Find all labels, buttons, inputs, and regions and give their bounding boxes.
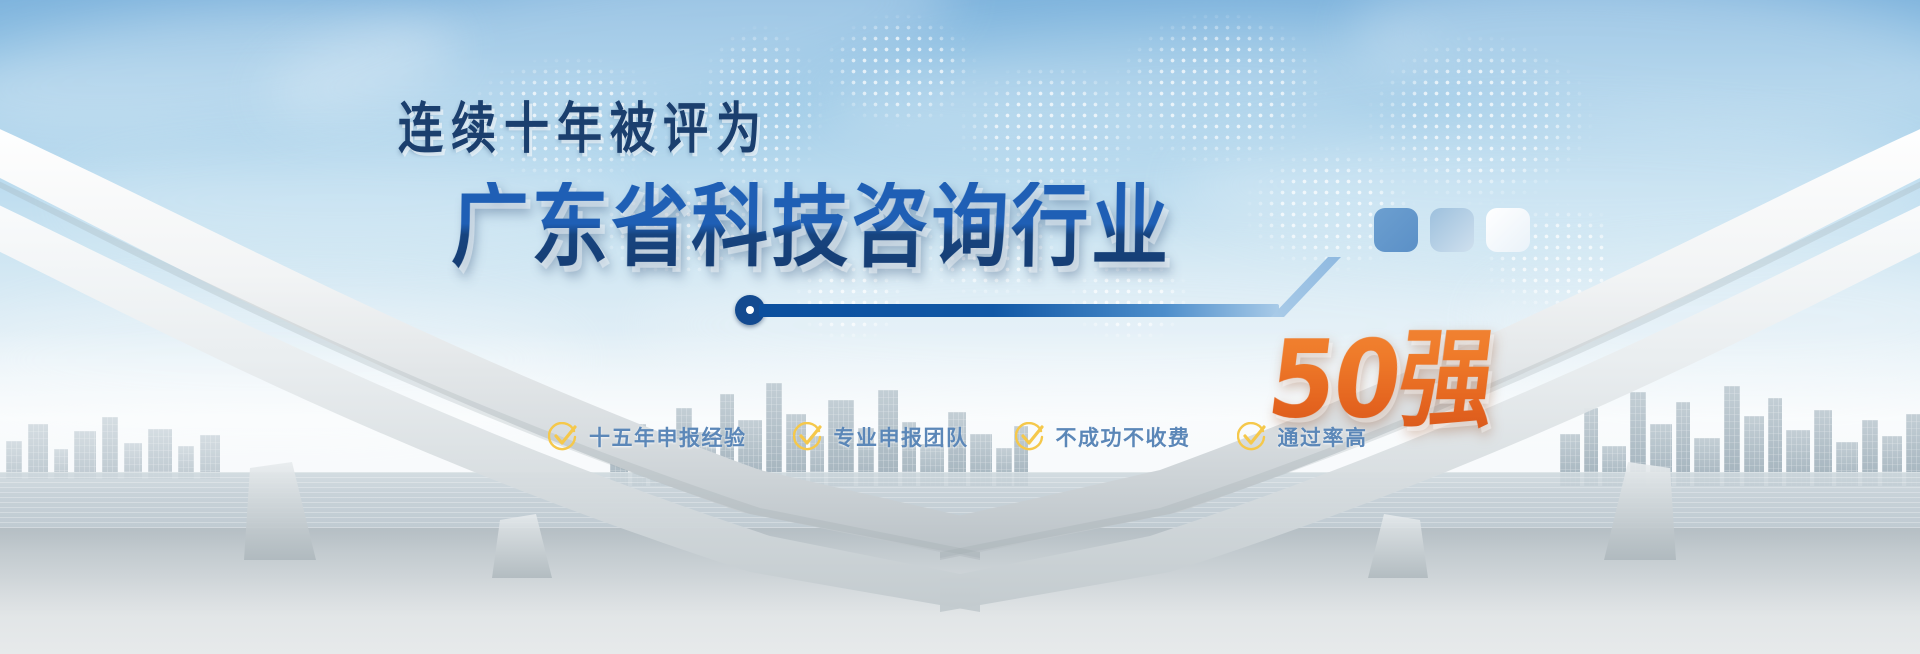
promo-banner: 连续十年被评为 广东省科技咨询行业 50强 <box>0 0 1920 654</box>
feature-badge: 十五年申报经验 <box>548 422 747 452</box>
feature-badge: 专业申报团队 <box>793 422 969 452</box>
feature-badge-label: 专业申报团队 <box>834 422 969 452</box>
feature-badge-label: 十五年申报经验 <box>589 422 747 452</box>
check-circle-icon <box>1237 422 1267 452</box>
chip-solid-blue-icon <box>1374 208 1418 252</box>
banner-content: 连续十年被评为 广东省科技咨询行业 50强 <box>0 0 1920 654</box>
connector-bar <box>759 304 1279 317</box>
check-circle-icon <box>548 422 578 452</box>
feature-badge: 不成功不收费 <box>1015 422 1191 452</box>
banner-subheadline: 连续十年被评为 <box>398 84 769 163</box>
feature-badge-label: 通过率高 <box>1278 422 1368 452</box>
chip-white-icon <box>1486 208 1530 252</box>
decorative-chips <box>1374 208 1530 252</box>
check-circle-icon <box>793 422 823 452</box>
check-circle-icon <box>1015 422 1045 452</box>
chip-mid-blue-icon <box>1430 208 1474 252</box>
feature-badge-list: 十五年申报经验 专业申报团队 不成功不收费 <box>548 422 1368 452</box>
feature-badge: 通过率高 <box>1237 422 1368 452</box>
feature-badge-label: 不成功不收费 <box>1056 422 1191 452</box>
